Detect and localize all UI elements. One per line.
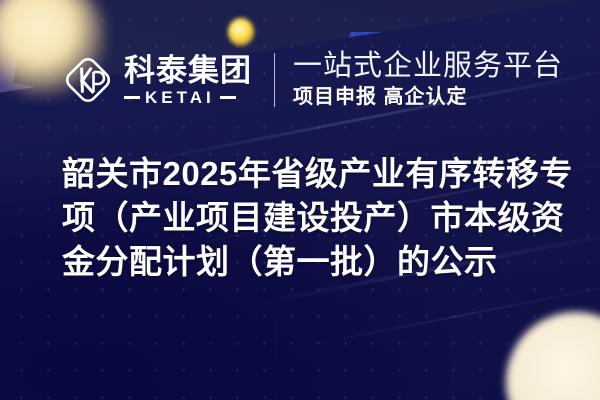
brand-name-en: KETAI — [145, 89, 215, 106]
brand-name-cn: 科泰集团 — [124, 55, 252, 87]
announcement-banner: 科泰集团 KETAI 一站式企业服务平台 项目申报 高企认定 韶关市2025年省… — [0, 0, 600, 400]
header-divider — [274, 53, 275, 107]
dash-left-icon — [124, 96, 140, 99]
tagline-main: 一站式企业服务平台 — [293, 51, 563, 83]
dash-right-icon — [220, 96, 236, 99]
tagline-group: 一站式企业服务平台 项目申报 高企认定 — [293, 51, 563, 109]
title-line-3: 金分配计划（第一批）的公示 — [62, 240, 554, 284]
banner-header: 科泰集团 KETAI 一站式企业服务平台 项目申报 高企认定 — [0, 42, 600, 118]
brand-name-en-row: KETAI — [124, 89, 252, 106]
title-line-2: 项（产业项目建设投产）市本级资 — [62, 196, 554, 240]
brand-wordmark: 科泰集团 KETAI — [124, 55, 252, 107]
announcement-title: 韶关市2025年省级产业有序转移专 项（产业项目建设投产）市本级资 金分配计划（… — [62, 152, 554, 284]
tagline-sub: 项目申报 高企认定 — [293, 86, 563, 109]
ketai-logo-icon[interactable] — [62, 54, 114, 106]
title-line-1: 韶关市2025年省级产业有序转移专 — [62, 152, 554, 196]
